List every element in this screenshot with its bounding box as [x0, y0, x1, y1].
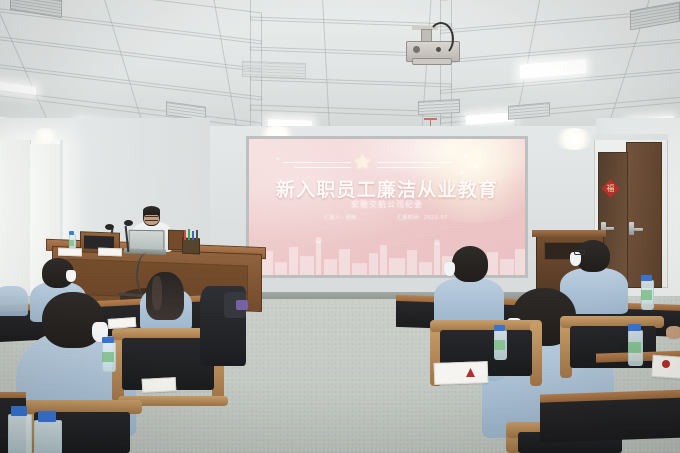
attendee-glasses [574, 250, 585, 255]
presenter-glasses [145, 216, 158, 221]
pen [192, 231, 194, 240]
document-logo [662, 360, 670, 368]
water-bottle [34, 420, 62, 453]
door-handle[interactable] [634, 228, 643, 231]
document [108, 317, 137, 329]
door-handle[interactable] [606, 227, 614, 230]
star-icon: ★ [353, 152, 372, 173]
presenter-hair [143, 206, 160, 215]
microphone-head [124, 220, 133, 226]
slide-rule-right [377, 167, 441, 168]
bottle-cap [11, 406, 27, 416]
air-vent [418, 99, 460, 115]
slide-presenter: 汇报人：杨晓 [324, 214, 356, 221]
face-mask [66, 270, 76, 282]
dove-icon: ✦ [275, 155, 281, 163]
fu-decoration-icon: 福 [601, 179, 619, 197]
wall-downlight [30, 128, 60, 144]
bottle-label [641, 290, 652, 300]
bottle-cap [628, 324, 641, 331]
attendee-hair-highlight [152, 276, 162, 310]
bottle-label [69, 240, 74, 246]
bottle-label [102, 352, 114, 362]
door-top-trim [594, 134, 668, 140]
meeting-room-photo: ★ ✦ ✦ ✦ ✦ 新入职员工廉洁从业教育 安徽交航公司纪委 汇报人：杨晓 汇报… [0, 0, 680, 453]
attendee-torso [434, 278, 504, 324]
attendee-head [576, 240, 610, 272]
side-cabinet-top [532, 230, 606, 237]
pen-holder [182, 238, 200, 255]
document [58, 248, 82, 257]
bottle-label [494, 340, 505, 350]
bottle-cap [38, 411, 56, 422]
audience-desk-right-front [540, 397, 680, 442]
bottle-cap [69, 231, 74, 235]
purple-item [236, 300, 248, 310]
slide-subtitle: 安徽交航公司纪委 [249, 199, 525, 210]
wall-downlight [552, 128, 596, 150]
pen [196, 230, 198, 240]
bottle-cap [494, 325, 505, 331]
bottle-cap [641, 275, 652, 281]
dove-icon: ✦ [461, 150, 471, 162]
water-bottle [8, 414, 32, 453]
face-mask [444, 262, 455, 276]
slide-title: 新入职员工廉洁从业教育 [249, 175, 525, 202]
slide-date: 汇报时间：2022.07 [397, 214, 447, 221]
document [98, 248, 122, 257]
bottle-label [628, 342, 641, 353]
attendee-head [452, 246, 488, 282]
slide-rule-left [295, 167, 351, 168]
slide-rule-left [283, 162, 351, 163]
fu-character: 福 [604, 182, 617, 195]
document [434, 361, 489, 385]
microphone-head [105, 224, 114, 230]
ceiling-drop-bracket [424, 118, 437, 120]
air-vent [242, 61, 306, 79]
bottle-cap [102, 337, 114, 343]
pen [184, 230, 186, 240]
attendee-torso [0, 286, 28, 316]
door-leaf-right[interactable] [626, 142, 662, 288]
pen [188, 229, 190, 240]
slide-rule-right [377, 162, 453, 163]
hand-on-desk [666, 326, 680, 339]
document [142, 377, 177, 393]
